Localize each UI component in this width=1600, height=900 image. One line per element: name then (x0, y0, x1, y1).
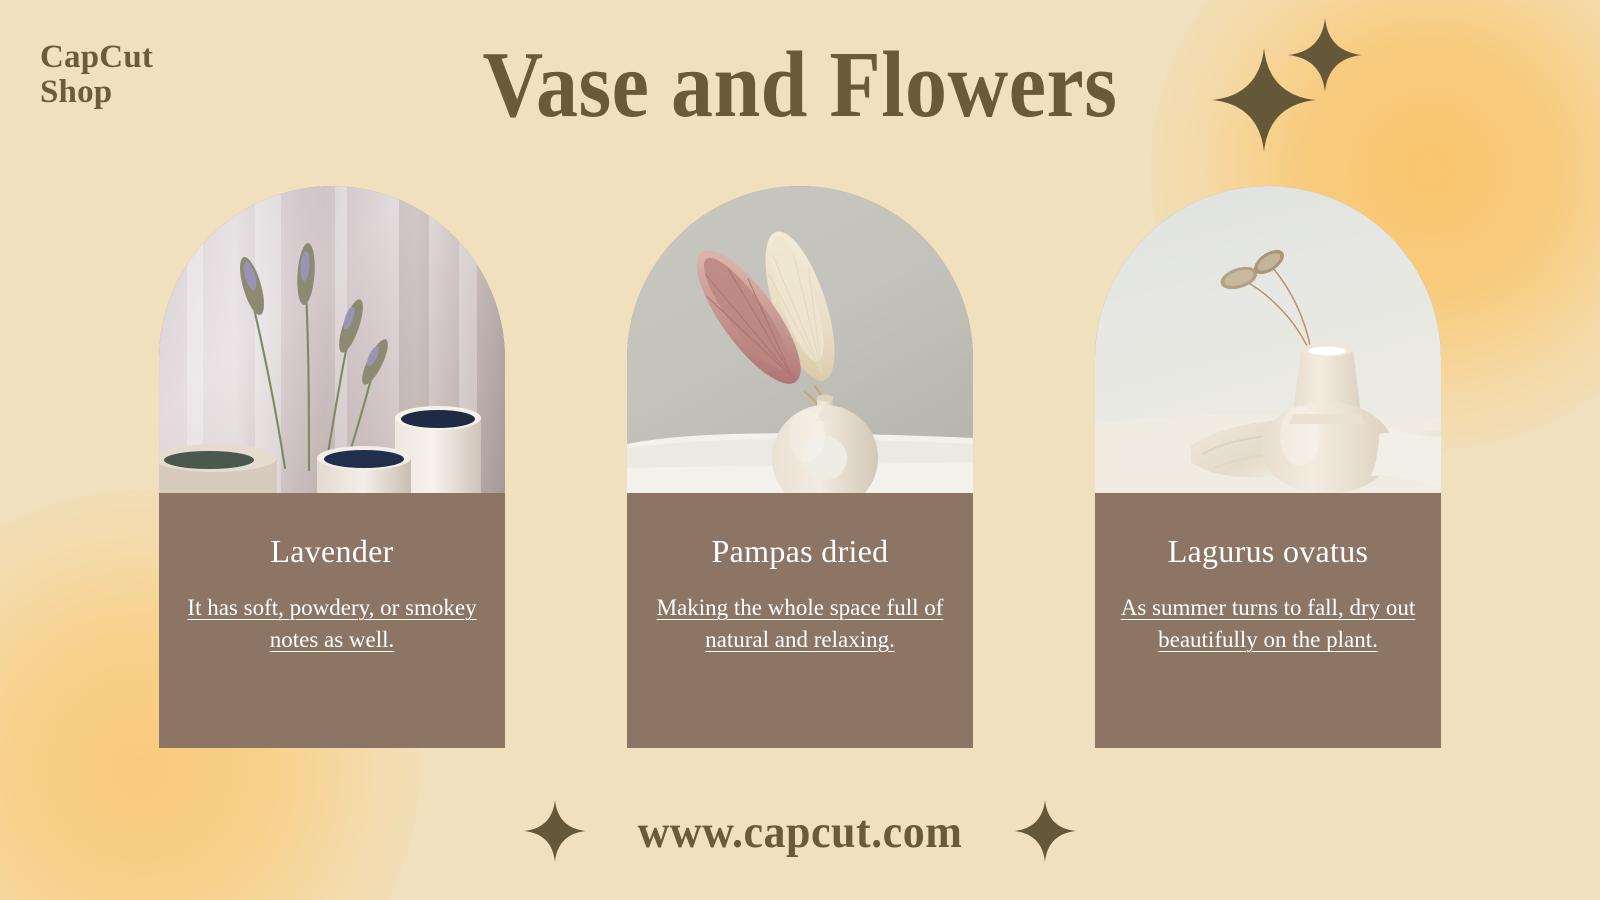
product-card-body: Lavender It has soft, powdery, or smokey… (159, 493, 505, 748)
sparkle-icon (1288, 18, 1362, 92)
page-title: Vase and Flowers (483, 39, 1118, 133)
product-title: Lavender (177, 533, 487, 570)
product-card-list: Lavender It has soft, powdery, or smokey… (0, 186, 1600, 748)
product-description: Making the whole space full of natural a… (645, 592, 955, 655)
product-photo-lagurus (1095, 186, 1441, 494)
product-card-body: Lagurus ovatus As summer turns to fall, … (1095, 493, 1441, 748)
product-card-body: Pampas dried Making the whole space full… (627, 493, 973, 748)
product-card[interactable]: Lagurus ovatus As summer turns to fall, … (1095, 186, 1441, 748)
header-sparkle-small-wrap (1288, 18, 1362, 92)
sparkle-icon (1014, 800, 1076, 862)
poster-canvas: CapCut Shop Vase and Flowers (0, 0, 1600, 900)
product-description: As summer turns to fall, dry out beautif… (1113, 592, 1423, 655)
product-card[interactable]: Lavender It has soft, powdery, or smokey… (159, 186, 505, 748)
product-title: Lagurus ovatus (1113, 533, 1423, 570)
product-description: It has soft, powdery, or smokey notes as… (177, 592, 487, 655)
product-photo-pampas (627, 186, 973, 494)
sparkle-icon (524, 800, 586, 862)
footer: www.capcut.com (0, 800, 1600, 862)
website-url[interactable]: www.capcut.com (638, 804, 963, 858)
product-card[interactable]: Pampas dried Making the whole space full… (627, 186, 973, 748)
product-photo-lavender (159, 186, 505, 494)
product-title: Pampas dried (645, 533, 955, 570)
